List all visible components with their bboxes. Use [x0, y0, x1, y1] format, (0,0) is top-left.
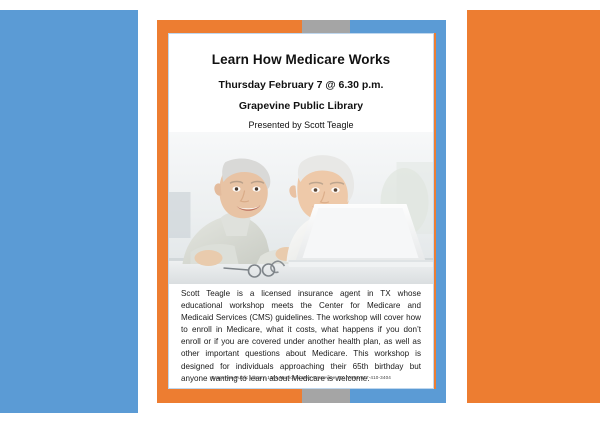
frame-bottom-blue-segment: [350, 389, 446, 403]
frame-bottom-gray-segment: [302, 389, 350, 403]
poster-footer-contact: Grapevine Public Library, 1201 Municipal…: [169, 375, 433, 380]
medicare-workshop-poster: Learn How Medicare Works Thursday Februa…: [157, 20, 446, 403]
poster-heading-block: Learn How Medicare Works Thursday Februa…: [169, 34, 433, 130]
poster-date-time: Thursday February 7 @ 6.30 p.m.: [183, 79, 419, 91]
frame-top-blue-segment: [350, 20, 446, 33]
frame-top-gray-segment: [302, 20, 350, 33]
poster-venue: Grapevine Public Library: [183, 100, 419, 112]
poster-body-text: Scott Teagle is a licensed insurance age…: [169, 288, 433, 385]
senior-couple-with-laptop-photo: [169, 132, 433, 284]
decorative-left-blue-band: [0, 10, 138, 413]
decorative-right-orange-band: [467, 10, 600, 403]
poster-title: Learn How Medicare Works: [183, 52, 419, 67]
frame-right-blue-segment: [436, 20, 446, 403]
poster-content-card: Learn How Medicare Works Thursday Februa…: [168, 33, 434, 389]
poster-presenter: Presented by Scott Teagle: [183, 120, 419, 130]
